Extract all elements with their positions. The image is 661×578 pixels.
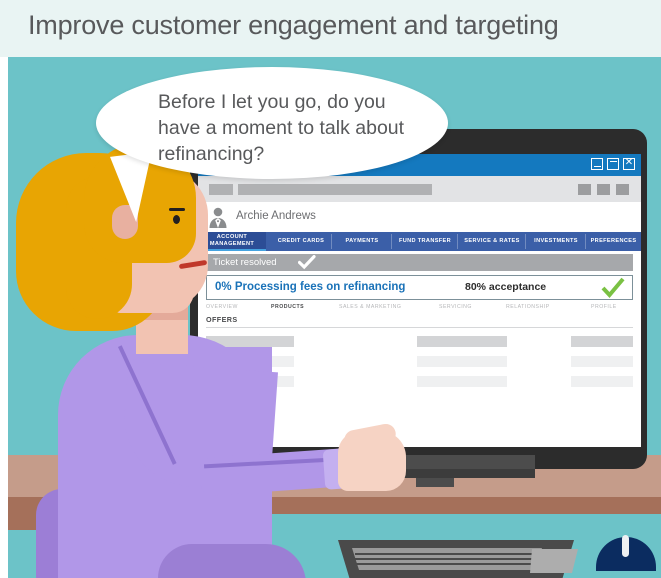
- subtab-overview[interactable]: OVERVIEW: [206, 304, 238, 310]
- person-eyebrow: [169, 208, 185, 211]
- subtab-products[interactable]: PRODUCTS: [271, 304, 304, 310]
- tab-label: CREDIT CARDS: [278, 238, 324, 245]
- keyboard-key-row: [353, 563, 533, 565]
- secondary-nav: OVERVIEW PRODUCTS SALES & MARKETING SERV…: [206, 304, 633, 316]
- white-checkmark-icon: [298, 255, 316, 270]
- maximize-icon[interactable]: [607, 158, 619, 170]
- minimize-icon[interactable]: [591, 158, 603, 170]
- window-controls: ✕: [591, 158, 635, 170]
- keyboard-key-row: [354, 558, 535, 560]
- section-divider: [206, 327, 633, 328]
- tab-investments[interactable]: INVESTMENTS: [526, 232, 586, 251]
- subtab-sales-and-marketing[interactable]: SALES & MARKETING: [339, 304, 401, 310]
- content-placeholder: [571, 336, 633, 347]
- page-title: Improve customer engagement and targetin…: [28, 10, 559, 41]
- tab-credit-cards[interactable]: CREDIT CARDS: [270, 232, 332, 251]
- speech-bubble-text: Before I let you go, do you have a momen…: [158, 89, 408, 167]
- green-checkmark-icon: [601, 277, 625, 299]
- toolbar-icon-placeholder-1[interactable]: [578, 184, 591, 195]
- subtab-label: PROFILE: [591, 304, 617, 310]
- customer-name: Archie Andrews: [236, 210, 316, 222]
- illustration-slide: Improve customer engagement and targetin…: [0, 0, 661, 578]
- person-lap: [158, 544, 306, 578]
- content-placeholder: [417, 336, 507, 347]
- section-label-offers: OFFERS: [206, 315, 238, 324]
- address-bar-placeholder[interactable]: [238, 184, 432, 195]
- primary-nav: ACCOUNT MANAGEMENT CREDIT CARDS PAYMENTS…: [198, 232, 641, 251]
- tab-label: SERVICE & RATES: [464, 238, 519, 245]
- close-icon[interactable]: ✕: [623, 158, 635, 170]
- slide-header: Improve customer engagement and targetin…: [0, 0, 661, 57]
- content-placeholder: [571, 356, 633, 367]
- tab-label: PREFERENCES: [591, 238, 637, 245]
- subtab-label: SERVICING: [439, 304, 472, 310]
- tab-label: PAYMENTS: [346, 238, 379, 245]
- subtab-servicing[interactable]: SERVICING: [439, 304, 472, 310]
- subtab-label: OVERVIEW: [206, 304, 238, 310]
- person-in-suit-icon: [208, 207, 228, 228]
- offer-banner[interactable]: 0% Processing fees on refinancing 80% ac…: [206, 275, 633, 300]
- subtab-profile[interactable]: PROFILE: [591, 304, 617, 310]
- keyboard-numpad: [530, 549, 578, 573]
- offer-acceptance-rate: 80% acceptance: [465, 281, 546, 293]
- tab-account-management[interactable]: ACCOUNT MANAGEMENT: [198, 232, 266, 251]
- toolbar-button-placeholder[interactable]: [209, 184, 233, 195]
- offer-title: 0% Processing fees on refinancing: [215, 281, 405, 293]
- tab-label: ACCOUNT MANAGEMENT: [198, 234, 266, 248]
- speech-bubble: Before I let you go, do you have a momen…: [96, 67, 448, 179]
- mouse-scroll-wheel: [622, 535, 629, 557]
- content-placeholder: [571, 376, 633, 387]
- subtab-label: PRODUCTS: [271, 304, 304, 310]
- tab-label: FUND TRANSFER: [399, 238, 451, 245]
- subtab-label: RELATIONSHIP: [506, 304, 550, 310]
- ticket-status-label: Ticket resolved: [213, 257, 277, 268]
- tab-service-and-rates[interactable]: SERVICE & RATES: [458, 232, 526, 251]
- person-eye: [173, 215, 180, 224]
- tab-preferences[interactable]: PREFERENCES: [586, 232, 641, 251]
- subtab-label: SALES & MARKETING: [339, 304, 401, 310]
- ticket-status-bar: Ticket resolved: [206, 254, 633, 271]
- subtab-relationship[interactable]: RELATIONSHIP: [506, 304, 550, 310]
- scene-canvas: ✕ Archie Andrews: [8, 57, 661, 578]
- tab-label: INVESTMENTS: [534, 238, 578, 245]
- content-placeholder: [417, 356, 507, 367]
- content-placeholder: [417, 376, 507, 387]
- browser-toolbar: [198, 176, 641, 202]
- keyboard-key-row: [355, 553, 537, 555]
- toolbar-icon-placeholder-3[interactable]: [616, 184, 629, 195]
- customer-header: Archie Andrews: [198, 202, 641, 232]
- tab-payments[interactable]: PAYMENTS: [332, 232, 392, 251]
- toolbar-icon-placeholder-2[interactable]: [597, 184, 610, 195]
- tab-fund-transfer[interactable]: FUND TRANSFER: [392, 232, 458, 251]
